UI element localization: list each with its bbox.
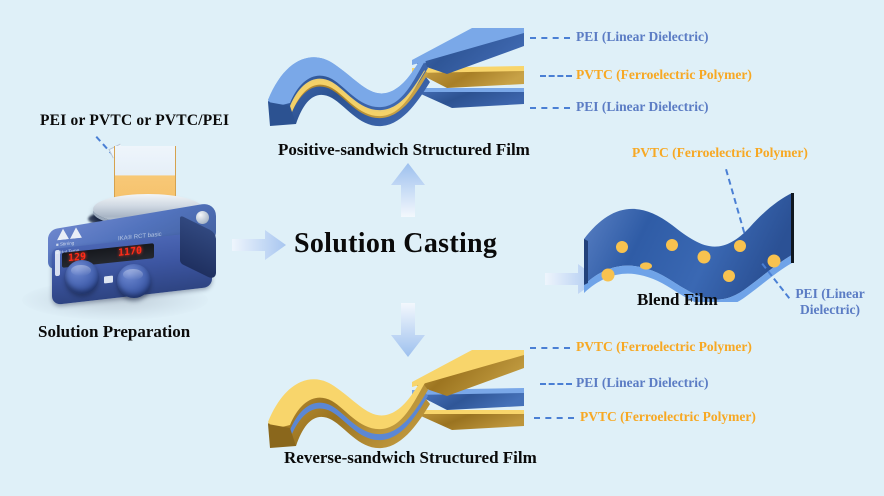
layer-leader-line <box>530 107 570 109</box>
layer-leader-line <box>530 347 570 349</box>
layer-label-pei: PEI (Linear Dielectric) <box>576 99 708 115</box>
blend-pei-label: PEI (Linear Dielectric) <box>780 286 880 317</box>
blend-pvtc-label: PVTC (Ferroelectric Polymer) <box>632 145 808 161</box>
stirrer-side-knob[interactable] <box>196 211 209 224</box>
layer-leader-line <box>540 75 572 77</box>
stirrer-display-right-value: 1170 <box>118 245 142 259</box>
solution-preparation-group: PEI or PVTC or PVTC/PEI IKA® RCT basic <box>0 100 265 360</box>
layer-label-pei: PEI (Linear Dielectric) <box>576 375 708 391</box>
blend-pei-label-line2: Dielectric) <box>780 302 880 318</box>
layer-leader-line <box>540 383 572 385</box>
stirrer-temperature-knob[interactable] <box>117 264 151 298</box>
reverse-sandwich-film-group: PVTC (Ferroelectric Polymer) PEI (Linear… <box>262 330 884 490</box>
stirrer-center-button[interactable] <box>104 276 113 284</box>
layer-label-pvtc: PVTC (Ferroelectric Polymer) <box>576 339 752 355</box>
positive-sandwich-film-illustration <box>262 12 537 137</box>
process-label: Solution Casting <box>294 228 497 260</box>
layer-leader-line <box>534 417 574 419</box>
reverse-sandwich-film-illustration <box>262 334 537 459</box>
positive-sandwich-film-caption: Positive-sandwich Structured Film <box>278 140 530 160</box>
stirrer-speed-knob[interactable] <box>65 260 99 294</box>
blend-pei-label-line1: PEI (Linear <box>780 286 880 302</box>
blend-film-group: PVTC (Ferroelectric Polymer) <box>575 145 884 325</box>
layer-leader-line <box>530 37 570 39</box>
solution-composition-label: PEI or PVTC or PVTC/PEI <box>40 112 229 130</box>
reverse-sandwich-film-caption: Reverse-sandwich Structured Film <box>284 448 537 468</box>
stirrer-panel-strip <box>55 250 60 277</box>
solution-preparation-caption: Solution Preparation <box>38 322 190 342</box>
layer-label-pvtc: PVTC (Ferroelectric Polymer) <box>580 409 756 425</box>
blend-film-caption: Blend Film <box>637 290 718 310</box>
figure-canvas: PEI or PVTC or PVTC/PEI IKA® RCT basic <box>0 0 884 496</box>
blend-film-illustration <box>580 187 825 302</box>
positive-sandwich-film-group: PEI (Linear Dielectric) PVTC (Ferroelect… <box>262 8 884 158</box>
layer-label-pvtc: PVTC (Ferroelectric Polymer) <box>576 67 752 83</box>
layer-label-pei: PEI (Linear Dielectric) <box>576 29 708 45</box>
arrow-up-to-positive-film-icon <box>390 162 426 223</box>
